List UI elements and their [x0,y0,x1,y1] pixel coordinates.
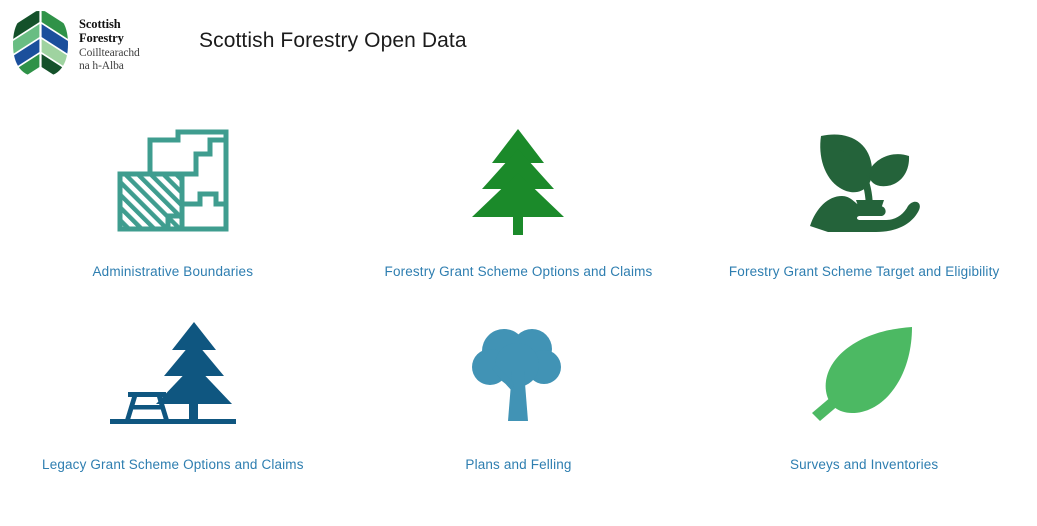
card-plans-and-felling[interactable]: Plans and Felling [346,303,692,496]
card-surveys-and-inventories[interactable]: Surveys and Inventories [691,303,1037,496]
card-label: Forestry Grant Scheme Target and Eligibi… [729,264,999,279]
card-label: Forestry Grant Scheme Options and Claims [385,264,653,279]
card-label: Administrative Boundaries [93,264,254,279]
leaf-icon [794,315,934,433]
brand-gaelic-line-1: Coilltearachd [79,48,140,60]
card-administrative-boundaries[interactable]: Administrative Boundaries [0,110,346,303]
card-forestry-grant-scheme-options-and-claims[interactable]: Forestry Grant Scheme Options and Claims [346,110,692,303]
card-legacy-grant-scheme-options-and-claims[interactable]: Legacy Grant Scheme Options and Claims [0,303,346,496]
page-header: Scottish Forestry Coilltearachd na h-Alb… [0,0,1037,95]
brand-gaelic-line-2: na h-Alba [79,61,140,73]
dataset-category-grid: Administrative Boundaries Forestry Grant… [0,110,1037,496]
conifer-tree-icon [448,122,588,240]
card-forestry-grant-scheme-target-and-eligibility[interactable]: Forestry Grant Scheme Target and Eligibi… [691,110,1037,303]
card-label: Plans and Felling [465,457,571,472]
brand-wordmark: Scottish Forestry Coilltearachd na h-Alb… [79,9,140,72]
brand-line-scottish: Scottish [79,18,140,31]
scottish-forestry-leaf-logo [10,9,72,79]
page-title: Scottish Forestry Open Data [199,29,467,53]
brand-line-forestry: Forestry [79,32,140,45]
card-label: Surveys and Inventories [790,457,938,472]
pine-tree-picnic-table-icon [103,315,243,433]
card-label: Legacy Grant Scheme Options and Claims [42,457,304,472]
hand-holding-sapling-icon [794,122,934,240]
broadleaf-tree-icon [448,315,588,433]
map-boundaries-icon [103,122,243,240]
brand-logo[interactable]: Scottish Forestry Coilltearachd na h-Alb… [10,9,140,79]
